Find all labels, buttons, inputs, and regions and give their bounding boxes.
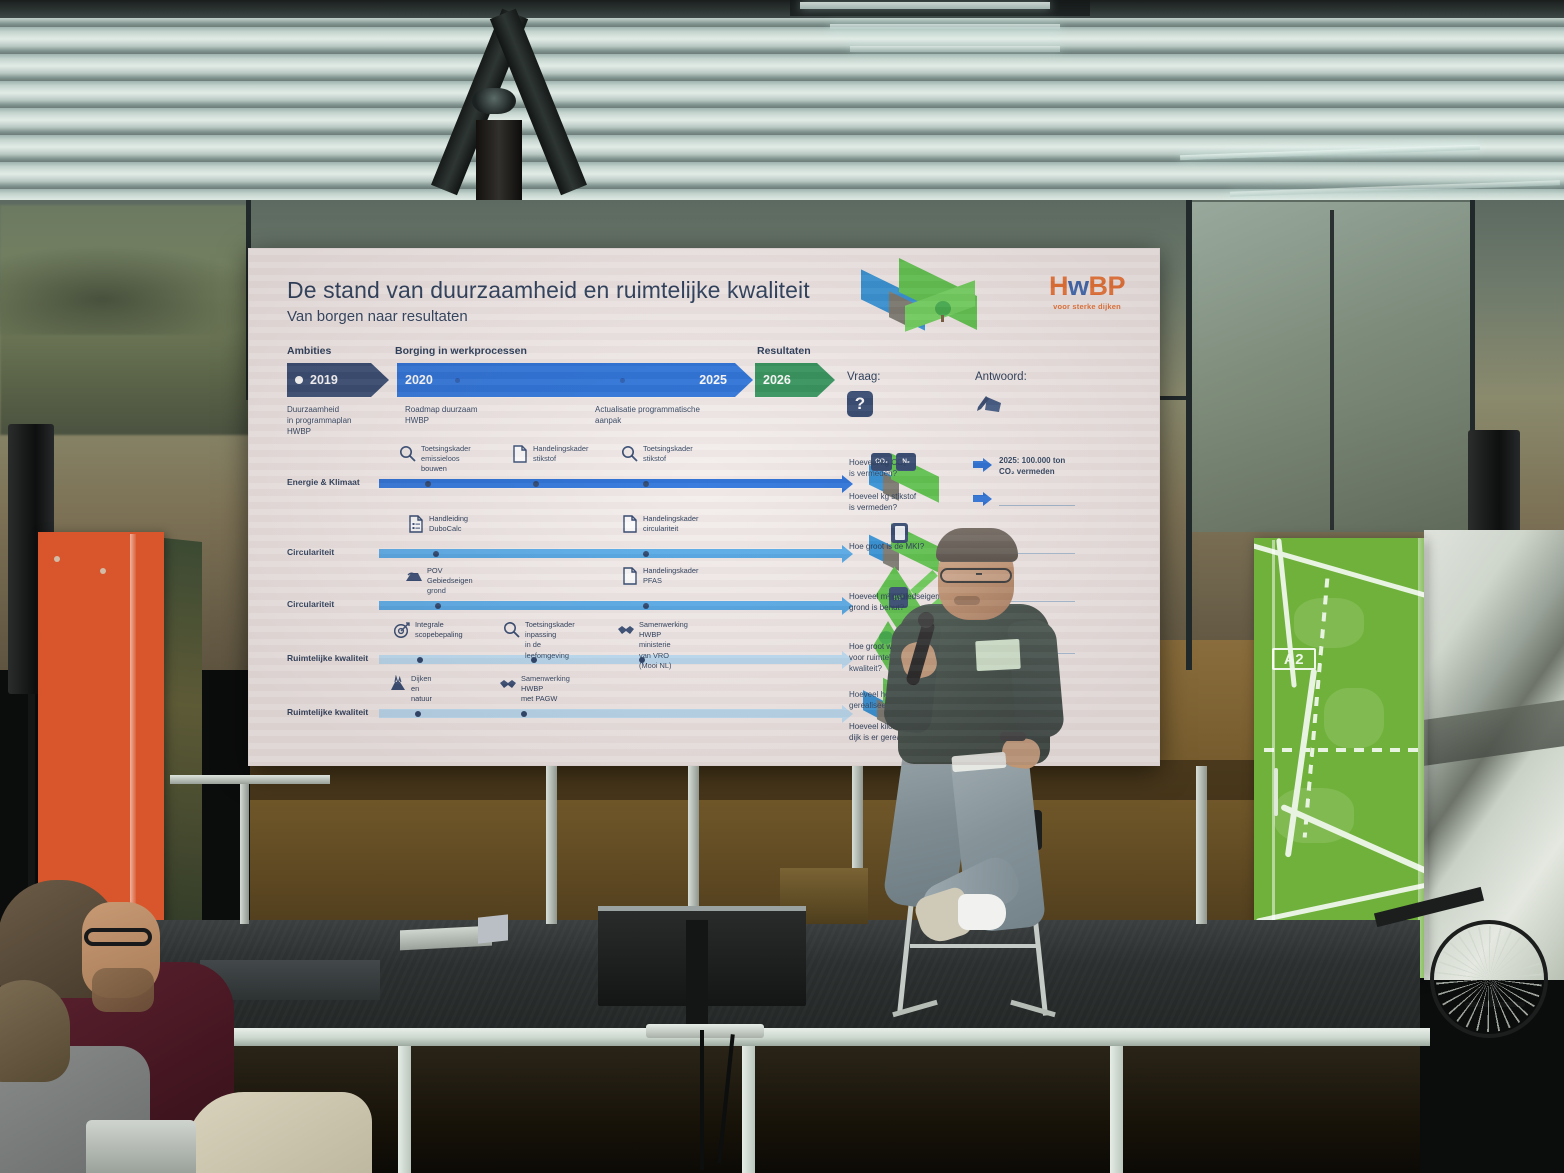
milestone-label: Handelingskader stikstof <box>533 444 588 464</box>
row-node <box>643 551 649 557</box>
row-track <box>379 549 853 558</box>
timeline-arrow-2020-2025: 2020 2025 <box>397 363 753 397</box>
document-icon <box>511 445 529 463</box>
dike-illustration <box>861 271 981 333</box>
timeline-node <box>620 378 625 383</box>
presenter-watch <box>1000 732 1026 741</box>
right-photo-panel-snow <box>1424 530 1564 980</box>
answer-arrow-head <box>983 458 992 472</box>
row-label: Energie & Klimaat <box>287 477 373 487</box>
presenter <box>880 524 1090 1034</box>
stage-rail-leg <box>398 1046 411 1173</box>
monitor-top-edge <box>598 906 806 911</box>
row-track <box>379 479 853 488</box>
timeline-caption-resultaten: Resultaten <box>757 345 811 357</box>
timeline-label-2020: 2020 <box>405 373 433 387</box>
timeline-label-2025: 2025 <box>699 373 727 387</box>
row-label: Circulariteit <box>287 599 373 609</box>
right-panel-door-handle[interactable] <box>1274 768 1278 816</box>
milestone-label: Samenwerking HWBP met PAGW <box>521 674 570 705</box>
milestone-label: Handelingskader circulariteit <box>643 514 698 534</box>
magnifier-icon <box>621 445 639 463</box>
stage-rail-leg <box>742 1046 755 1173</box>
ceiling-light <box>830 24 1060 30</box>
timeline-label-2026: 2026 <box>763 373 791 387</box>
milestone-label: Toetsingskader inpassing in de leefomgev… <box>525 620 575 661</box>
conference-room-photo: A2 De stand van duurzaamheid en ruimteli… <box>0 0 1564 1173</box>
magnifier-icon <box>399 445 417 463</box>
timeline-caption-ambities: Ambities <box>287 345 331 357</box>
question-text: Hoeveel kg stikstof is vermeden? <box>849 491 959 513</box>
stage-rail-leg <box>1110 1046 1123 1173</box>
arrow-head <box>371 363 389 397</box>
stool-footrest <box>910 944 1036 948</box>
presenter-hair <box>936 528 1018 562</box>
audience-chair-back <box>86 1120 196 1173</box>
answer-arrow-head <box>983 492 992 506</box>
question-text: Hoeveel kg CO₂ is vermeden? <box>849 457 959 479</box>
microphone-head <box>918 612 934 628</box>
timeline-arrow-2026: 2026 <box>755 363 835 397</box>
column-header-antwoord: Antwoord: <box>975 371 1027 383</box>
presenter-arm-right <box>1007 618 1065 740</box>
milestone-label: Integrale scopebepaling <box>415 620 463 640</box>
dike-tree <box>935 301 951 316</box>
checklist-icon <box>407 515 425 533</box>
row-track <box>379 601 853 610</box>
stool-foot <box>1010 1000 1056 1017</box>
ceiling-light <box>800 2 1050 9</box>
timeline-note-3: Actualisatie programmatische aanpak <box>595 405 735 427</box>
row-label: Circulariteit <box>287 547 373 557</box>
window-mullion <box>1330 210 1334 530</box>
presenter-mouth <box>954 596 980 605</box>
milestone-label: Toetsingskader stikstof <box>643 444 693 464</box>
audience-glasses <box>84 928 152 946</box>
map-area <box>1324 688 1384 748</box>
side-table-top <box>170 775 330 784</box>
timeline-arrow-2019: 2019 <box>287 363 389 397</box>
screen-support-post <box>688 766 699 924</box>
row-node <box>417 657 423 663</box>
monitor-base <box>646 1024 764 1038</box>
milestone-label: Handelingskader PFAS <box>643 566 698 586</box>
timeline-label-2019: 2019 <box>310 373 338 387</box>
handshake-icon <box>499 675 517 693</box>
cable <box>700 1030 704 1170</box>
side-table-leg <box>240 784 249 924</box>
stage-equipment <box>478 914 508 943</box>
row-node <box>415 711 421 717</box>
answer-arrow-stem <box>973 495 983 502</box>
timeline-caption-borging: Borging in werkprocessen <box>395 345 527 357</box>
bicycle-spokes <box>1436 926 1542 1032</box>
slide-subtitle: Van borgen naar resultaten <box>287 308 1129 325</box>
answer-arrow-stem <box>973 461 983 468</box>
column-header-vraag: Vraag: <box>847 371 880 383</box>
milestone-label: Handleiding DuboCalc <box>429 514 468 534</box>
document-icon <box>621 567 639 585</box>
audience-knee <box>186 1092 372 1173</box>
dike-tree-trunk <box>941 315 944 322</box>
map-railway <box>1264 748 1424 752</box>
hwbp-logo: HwBP voor sterke dijken <box>1049 273 1125 311</box>
logo-h: H <box>1049 271 1068 301</box>
a2-road-sign: A2 <box>1272 648 1316 670</box>
wooden-wall-shadow <box>250 760 1260 800</box>
louvered-ceiling <box>0 0 1564 232</box>
slide-title: De stand van duurzaamheid en ruimtelijke… <box>287 277 1129 304</box>
milestone-label: Toetsingskader emissieloos bouwen <box>421 444 471 475</box>
dike-nature-icon <box>389 675 407 693</box>
presenter-glasses <box>940 568 1012 583</box>
handshake-icon <box>617 621 635 639</box>
target-icon <box>393 621 411 639</box>
row-node <box>643 603 649 609</box>
row-energie-klimaat: Energie & Klimaat Toetsingskader emissie… <box>287 447 1117 511</box>
panel-fastener <box>54 556 60 562</box>
ceiling-top-beam <box>0 0 1564 18</box>
row-node <box>435 603 441 609</box>
screen-support-post <box>1196 766 1207 924</box>
ceiling-strip-light <box>1230 180 1560 197</box>
presenter-name-badge <box>975 639 1021 671</box>
question-mark-icon: ? <box>847 391 873 417</box>
answer-text: 2025: 100.000 ton CO₂ vermeden <box>999 455 1099 477</box>
screen-support-post <box>546 766 557 924</box>
timeline-note-2: Roadmap duurzaam HWBP <box>405 405 525 427</box>
milestone-label: POV Gebiedseigen grond <box>427 566 473 597</box>
milestone-label: Samenwerking HWBP ministerie van VRO (Mo… <box>639 620 688 671</box>
logo-w: w <box>1068 271 1089 301</box>
timeline: Ambities Borging in werkprocessen Result… <box>287 345 967 431</box>
logo-tagline: voor sterke dijken <box>1049 302 1125 311</box>
answer-blank-line <box>999 505 1075 506</box>
milestone-label: Dijken en natuur <box>411 674 432 705</box>
row-node <box>521 711 527 717</box>
ceiling-light <box>850 46 1060 52</box>
presenter-sneaker <box>958 894 1006 930</box>
row-node <box>433 551 439 557</box>
row-node <box>643 481 649 487</box>
timeline-node <box>455 378 460 383</box>
writing-hand-icon <box>975 393 1003 415</box>
panel-fastener <box>100 568 106 574</box>
map-area <box>1294 598 1364 648</box>
logo-bp: BP <box>1088 271 1125 301</box>
arrow-head <box>817 363 835 397</box>
audience-hair <box>0 980 70 1082</box>
arrow-head <box>735 363 753 397</box>
document-icon <box>621 515 639 533</box>
right-panel-door-seam <box>1272 540 1275 976</box>
left-speaker-pole <box>28 694 35 904</box>
row-track <box>379 655 853 664</box>
row-track <box>379 709 853 718</box>
ceiling-strip-light <box>1180 145 1480 160</box>
row-node <box>425 481 431 487</box>
dike-icon <box>405 567 423 585</box>
magnifier-icon <box>503 621 521 639</box>
timeline-note-1: Duurzaamheid in programmaplan HWBP <box>287 405 383 437</box>
monitor-stand <box>686 920 708 1038</box>
row-node <box>533 481 539 487</box>
glasses-bridge <box>976 573 982 575</box>
timeline-start-dot <box>295 376 303 384</box>
row-label: Ruimtelijke kwaliteit <box>287 707 373 717</box>
row-label: Ruimtelijke kwaliteit <box>287 653 373 663</box>
hill-landscape-backdrop <box>0 205 250 435</box>
ceiling-dome-light <box>472 88 516 114</box>
stage-edge-rail <box>140 1028 1430 1046</box>
audience-member-seated <box>186 1076 386 1173</box>
